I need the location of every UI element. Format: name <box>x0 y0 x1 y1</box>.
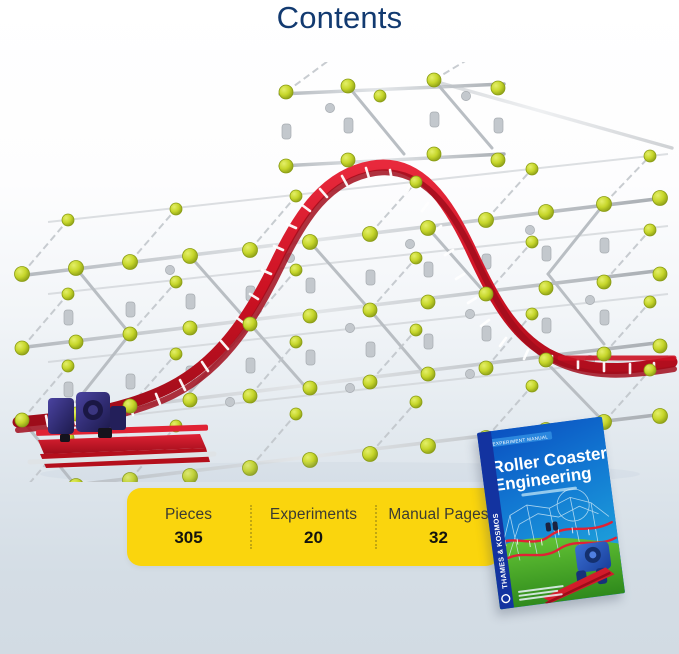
spec-divider-1 <box>250 505 252 549</box>
spec-pieces-value: 305 <box>131 526 246 549</box>
page-title: Contents <box>0 0 679 36</box>
spec-experiments-label: Experiments <box>256 505 371 525</box>
spec-divider-2 <box>375 505 377 549</box>
manual-book-cover: EXPERIMENT MANUAL Roller Coaster Enginee… <box>477 417 625 610</box>
spec-manual-pages: Manual Pages 32 <box>377 505 500 549</box>
spec-pieces-label: Pieces <box>131 505 246 525</box>
specs-bar: Pieces 305 Experiments 20 Manual Pages 3… <box>127 488 500 566</box>
spec-experiments: Experiments 20 <box>252 505 375 549</box>
spec-manual-pages-value: 32 <box>381 526 496 549</box>
product-image-canvas: Contents <box>0 0 679 654</box>
spec-manual-pages-label: Manual Pages <box>381 505 496 525</box>
spec-experiments-value: 20 <box>256 526 371 549</box>
spec-pieces: Pieces 305 <box>127 505 250 549</box>
